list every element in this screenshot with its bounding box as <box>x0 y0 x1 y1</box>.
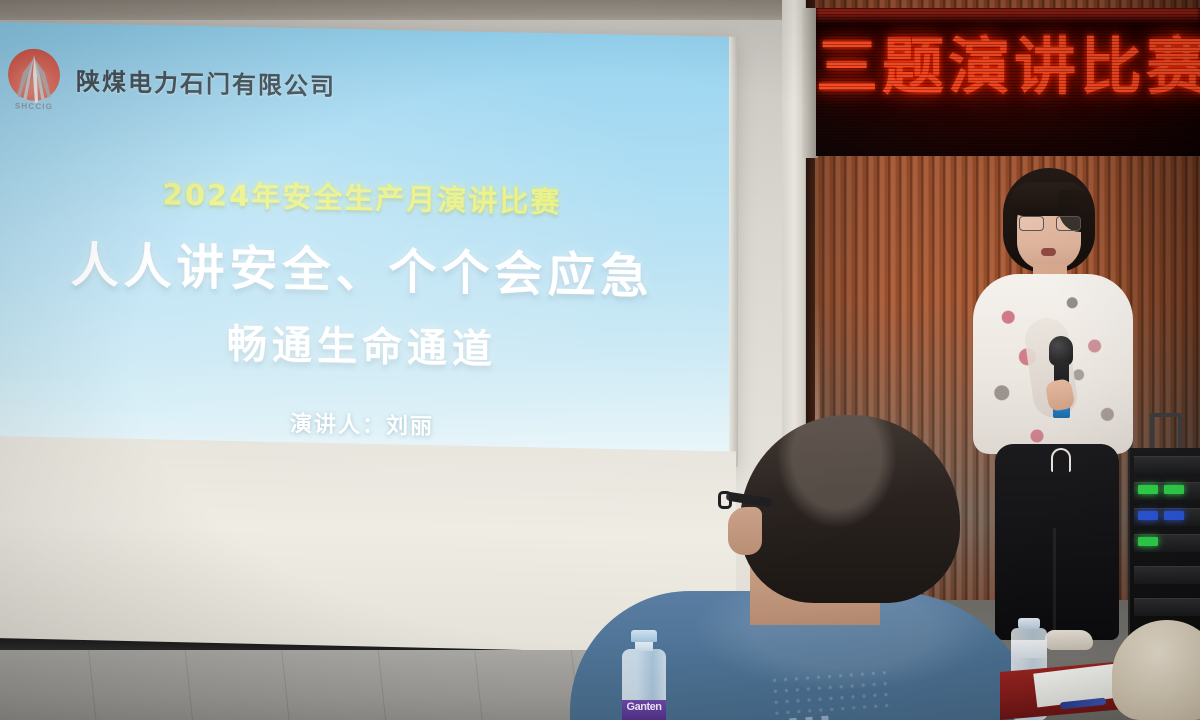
slide-title-line-2: 畅通生命通道 <box>0 307 730 380</box>
water-bottle-left: Ganten <box>618 630 670 720</box>
logo-fan-icon <box>15 52 53 105</box>
bottle2-label <box>1011 640 1047 658</box>
seated-man-head <box>740 415 960 603</box>
projection-screen-surface: SHCCIG 陕煤电力石门有限公司 2024年安全生产月演讲比赛 人人讲安全、个… <box>0 22 730 467</box>
trouser-leg-seam <box>1053 528 1056 640</box>
slide: SHCCIG 陕煤电力石门有限公司 2024年安全生产月演讲比赛 人人讲安全、个… <box>0 22 730 467</box>
bottle-neck <box>635 641 653 651</box>
slide-brand-bar: SHCCIG 陕煤电力石门有限公司 <box>6 46 336 115</box>
bottle-cap <box>631 630 657 642</box>
slide-title-line-1: 人人讲安全、个个会应急 <box>0 224 730 309</box>
rack-led-blue-2 <box>1164 511 1184 520</box>
bottle-label-text: Ganten <box>622 701 666 713</box>
screen-right-edge <box>729 37 738 467</box>
shccig-logo-icon: SHCCIG <box>6 46 62 109</box>
bottle-label: Ganten <box>622 700 666 720</box>
photo-scene: 三题演讲比赛 SHCCIG <box>0 0 1200 720</box>
glasses-hinge <box>718 491 732 509</box>
presenter-glasses-icon <box>1019 216 1081 231</box>
logo-wordmark: SHCCIG <box>6 101 62 111</box>
projection-screen: SHCCIG 陕煤电力石门有限公司 2024年安全生产月演讲比赛 人人讲安全、个… <box>0 22 730 467</box>
led-banner: 三题演讲比赛 <box>816 8 1200 156</box>
led-banner-text: 三题演讲比赛 <box>816 34 1200 99</box>
shirt-perforation-pattern <box>769 667 891 715</box>
bottle2-cap <box>1018 618 1040 629</box>
rack-led-green-2 <box>1164 485 1184 494</box>
company-name: 陕煤电力石门有限公司 <box>76 61 336 101</box>
seated-man-ear <box>728 507 762 555</box>
slide-subtitle: 2024年安全生产月演讲比赛 <box>0 168 730 225</box>
presenter-shoe <box>1045 630 1093 650</box>
trouser-drawstring <box>1051 448 1071 472</box>
presenter-mouth <box>1041 248 1056 256</box>
